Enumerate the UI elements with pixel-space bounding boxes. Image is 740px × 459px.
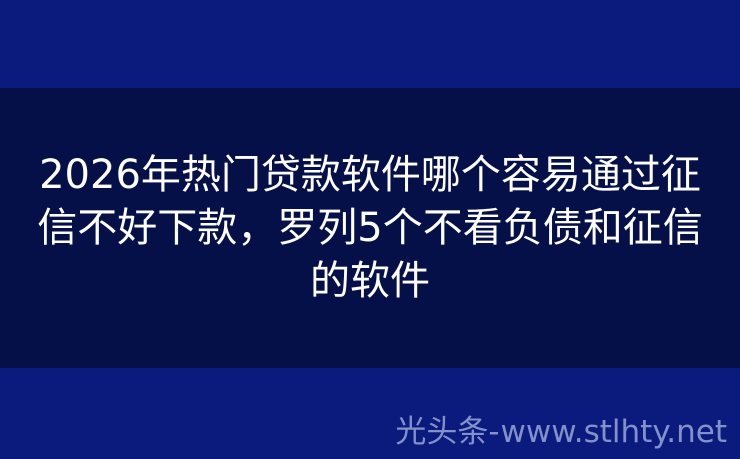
poster-title: 2026年热门贷款软件哪个容易通过征 信不好下款，罗列5个不看负债和征信 的软件 [20, 149, 720, 308]
watermark: 光头条 - www.stlhty.net [395, 412, 727, 452]
title-line-2: 信不好下款，罗列5个不看负债和征信 [20, 202, 720, 255]
watermark-separator: - [488, 412, 499, 452]
watermark-site-url: www.stlhty.net [501, 412, 727, 452]
title-line-1: 2026年热门贷款软件哪个容易通过征 [20, 149, 720, 202]
title-line-3: 的软件 [20, 255, 720, 308]
background-band-top [0, 0, 740, 88]
title-block: 2026年热门贷款软件哪个容易通过征 信不好下款，罗列5个不看负债和征信 的软件 [0, 88, 740, 368]
poster-canvas: 2026年热门贷款软件哪个容易通过征 信不好下款，罗列5个不看负债和征信 的软件… [0, 0, 740, 459]
watermark-brand: 光头条 [395, 412, 488, 452]
